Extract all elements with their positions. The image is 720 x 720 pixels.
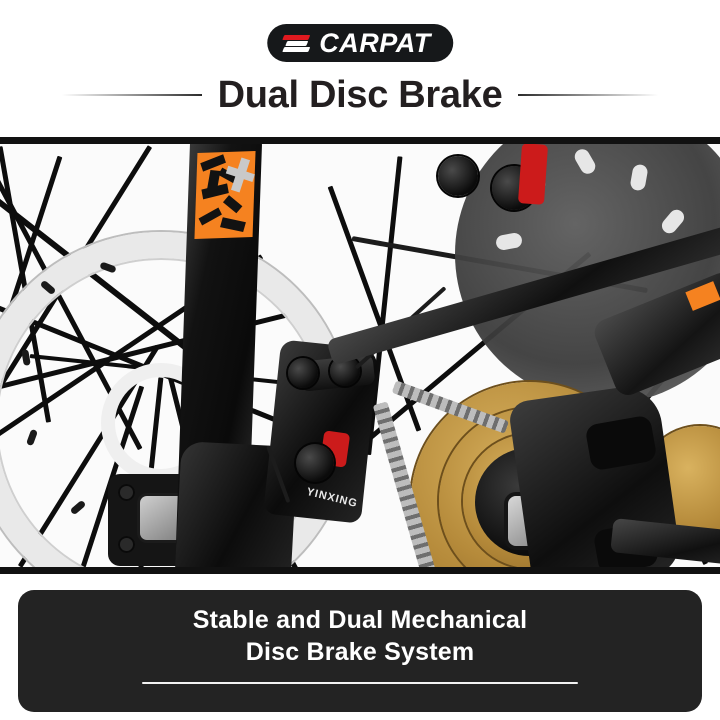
photo-canvas: YINXING [0, 144, 720, 567]
product-photo: YINXING [0, 137, 720, 574]
rear-caliper-red-accent [518, 144, 548, 205]
hub-bolt [118, 536, 135, 553]
caliper-pivot-bolt [296, 444, 334, 482]
title-rule-right [518, 94, 658, 96]
carpat-arrow-logo-icon [283, 32, 313, 54]
header: CARPAT Dual Disc Brake [0, 0, 720, 137]
hub-bolt [118, 484, 135, 501]
caliper-adjuster-knob [288, 358, 318, 388]
caption-line-1: Stable and Dual Mechanical [193, 604, 527, 636]
brand-name: CARPAT [319, 30, 431, 57]
title-rule-left [62, 94, 202, 96]
page-title: Dual Disc Brake [218, 76, 503, 114]
title-row: Dual Disc Brake [0, 72, 720, 118]
caption-panel: Stable and Dual Mechanical Disc Brake Sy… [18, 590, 702, 712]
caption-underline-rule [142, 682, 578, 684]
brand-logo-pill: CARPAT [267, 24, 453, 62]
rear-hub-bolt [438, 156, 478, 196]
caption-line-2: Disc Brake System [246, 636, 475, 668]
